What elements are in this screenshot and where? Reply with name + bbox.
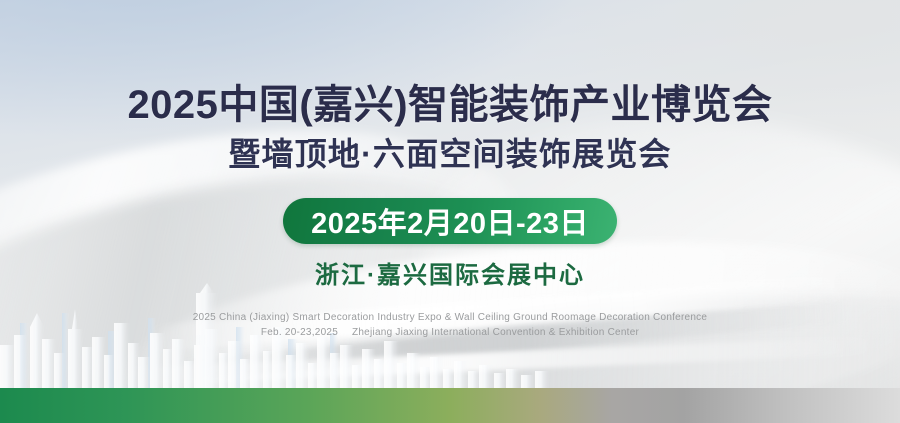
english-venue: Zhejiang Jiaxing International Conventio… [352,327,639,338]
event-date-badge: 2025年2月20日-23日 [283,198,617,244]
event-date-text: 2025年2月20日-23日 [311,200,589,242]
english-subtitle-block: 2025 China (Jiaxing) Smart Decoration In… [193,310,708,341]
event-title-sub: 暨墙顶地·六面空间装饰展览会 [228,135,671,173]
banner-content: 2025中国(嘉兴)智能装饰产业博览会 暨墙顶地·六面空间装饰展览会 2025年… [0,0,900,423]
english-title-line: 2025 China (Jiaxing) Smart Decoration In… [193,310,708,326]
english-date-venue-line: Feb. 20-23,2025Zhejiang Jiaxing Internat… [193,325,708,341]
english-date: Feb. 20-23,2025 [261,327,338,338]
event-title-main: 2025中国(嘉兴)智能装饰产业博览会 [127,82,772,129]
expo-banner: 2025中国(嘉兴)智能装饰产业博览会 暨墙顶地·六面空间装饰展览会 2025年… [0,0,900,423]
event-venue-cn: 浙江·嘉兴国际会展中心 [315,255,585,290]
